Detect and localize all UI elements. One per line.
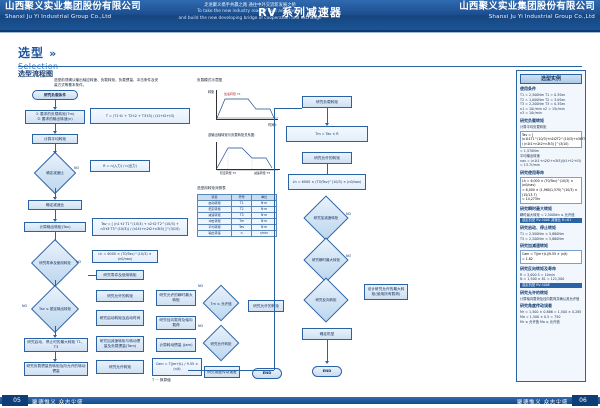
flow-node-provisional-model: 确定减速比 <box>28 200 82 210</box>
flow-decision-right-3-label: 研究反向转矩 <box>304 292 348 308</box>
flow-node-end-right: END <box>312 366 342 377</box>
panel-allowed-text: 计算轴向载荷及径向载荷并确认其允许值 <box>520 297 582 302</box>
cell-item: 输出转速 <box>198 231 232 237</box>
flow-formula-tav: Tav = [ (n1·t1·T1^(10/3) + n2·t2·T2^(10/… <box>92 218 188 236</box>
flow-decision-right-life-label: 研究加减速转矩 <box>304 210 348 226</box>
branch-label-no: NO <box>198 324 203 328</box>
header-product-title: RV 系列减速器 <box>258 4 342 20</box>
section-divider <box>18 66 582 67</box>
mini-chart2-caption: 选输出轴转矩与负载转矩关系图： <box>208 132 257 137</box>
panel-heading-max-torque: 研究瞬时最大转矩 <box>520 206 582 212</box>
flow-node-accel-torque: 研究加减速转矩与转动惯量及负载惯量(Tam) <box>96 336 144 352</box>
company-name-en-right: Shanxi Ju Yi Industrial Group Co.,Ltd <box>430 13 595 21</box>
footer-text-left: 聚德惟义 众志尘盛 <box>32 398 83 406</box>
panel-formula-cam: Cam = T(Jm+JL)/9.55 × (n/t) = 1.82 <box>520 250 582 263</box>
page-number-right: 06 <box>572 395 594 406</box>
panel-reverse-values: R = 3,000 S = 10min N = 1,500 × 81 = 121… <box>520 273 582 282</box>
note-conditions: 选型前须确认输出轴应转速、负载转矩、负载惯量、冲击条件及安装方式等基本条件。 <box>54 78 159 88</box>
flow-node-average-torque: 计算平均转矩 <box>32 134 78 144</box>
panel-heading-conditions: 使用条件 <box>520 86 582 92</box>
flow-formula-right-2: Lh = 6000 × (T0/Tav)^(10/3) × (n0/nav) <box>288 174 366 190</box>
panel-start-stop-values: T1 = 2,500Nm < 5,880Nm T3 = 2,200Nm < 5,… <box>520 232 582 241</box>
flow-node-right-2: 研究允许的转矩 <box>302 152 352 164</box>
flow-formula-cam: Cam = T(Jm+JL) / 9.55 × (n/t) <box>152 358 202 376</box>
branch-label-no: NO <box>346 212 351 216</box>
note-load-pattern: 负载模式示意图 <box>197 78 222 83</box>
connector <box>327 340 328 362</box>
header-left-company: 山西聚义实业集团股份有限公司 Shanxi Ju Yi Industrial G… <box>5 1 165 21</box>
mini-chart-label-t1: 加速转矩 T1 <box>224 92 241 96</box>
flow-caption-t: T ··· 换算值 <box>152 378 171 383</box>
chevron-right-icon: » <box>49 47 56 60</box>
panel-heading-angle: 研究角度传动误差 <box>520 303 582 309</box>
footer-bar <box>0 397 600 404</box>
table-row: 输出转速 n r/min <box>198 231 277 237</box>
flow-decision-ratio-label: 确定减速比 <box>36 165 74 181</box>
flow-decision-life-label: 研究寿命及使用转矩 <box>34 256 76 270</box>
flow-node-start-time: 研究启动转矩及启动时间 <box>96 310 144 326</box>
flow-node-angle-error: 研究角度传动误差 <box>204 366 240 378</box>
panel-selected-model-2: 选定机型 RV-500E <box>520 283 582 288</box>
panel-heading-life: 研究使用寿命 <box>520 170 582 176</box>
branch-label-no: NO <box>76 260 81 264</box>
branch-label-no: NO <box>74 166 79 170</box>
flow-formula-right: Tm = Tav × R <box>286 126 368 142</box>
panel-heading-reverse: 研究反向转矩及寿命 <box>520 266 582 272</box>
connector <box>327 108 328 124</box>
footer-edge-right <box>594 395 598 406</box>
flow-decision-allowed-label: 研究允许转矩 <box>204 338 238 350</box>
cell-symbol: n <box>232 231 252 237</box>
company-name-cn: 山西聚义实业集团股份有限公司 <box>5 1 165 13</box>
flow-diagram: 选型前须确认输出轴应转速、负载转矩、负载惯量、冲击条件及安装方式等基本条件。 负… <box>12 78 512 383</box>
branch-label-no: NO <box>346 254 351 258</box>
page-number-left: 05 <box>6 395 28 406</box>
mini-chart-torque-speed: 选输出轴转矩与负载转矩关系图： 稳定转矩 T2 减速转矩 T3 <box>208 138 288 183</box>
flow-node-allowed-torque2: 研究允许转矩 <box>96 360 144 374</box>
arrow-down-icon <box>325 361 329 364</box>
panel-avg-speed: 平均输出转速 nav = (n1t1+n2t2+n3t3)/(t1+t2+t3)… <box>520 154 582 168</box>
header-thin-rule <box>0 32 600 33</box>
page-root: 山西聚义实业集团股份有限公司 Shanxi Ju Yi Industrial G… <box>0 0 600 408</box>
mini-chart2-label-t2: 稳定转矩 T2 <box>220 171 236 175</box>
company-name-cn-right: 山西聚义实业集团股份有限公司 <box>430 1 595 13</box>
page-header: 山西聚义实业集团股份有限公司 Shanxi Ju Yi Industrial G… <box>0 0 600 34</box>
panel-formula-life: Lh = 6,000 × (T0/Tav)^(10/3) × (n0/nav) … <box>520 177 582 204</box>
spine-connector <box>274 108 275 370</box>
footer-text-right: 聚德惟义 众志尘盛 <box>517 398 568 406</box>
flow-node-start: 研究负载条件 <box>32 90 78 100</box>
branch-label-no: NO <box>198 284 203 288</box>
flow-node-recheck: 研究允许的转矩 <box>248 300 284 312</box>
panel-max-torque-value: 瞬时最大转矩 = 2,500Nm ≤ 允许值 <box>520 213 582 218</box>
panel-heading-accel: 研究加减速转矩 <box>520 243 582 249</box>
flow-formula-average-torque: T = (T1·t1 + T2·t2 + T3·t3) / (t1+t2+t3) <box>90 108 190 124</box>
panel-avg-torque-caption: 计算平均负载转矩 <box>520 125 582 130</box>
flow-node-conditions: ① 要求的负载转矩(Tm) ② 要求的输出转速(n) <box>25 110 85 124</box>
section-title-cn: 选型 <box>18 46 44 60</box>
flow-formula-life: Lh = 6000 × (T0/Tav)^(10/3) × (n0/nav) <box>92 250 158 263</box>
cell-unit: r/min <box>252 231 277 237</box>
header-right-company: 山西聚义实业集团股份有限公司 Shanxi Ju Yi Industrial G… <box>430 1 595 21</box>
flow-node-check-inertia: 研究允许的瞬时最大转矩 <box>156 290 196 306</box>
branch-label-no: NO <box>22 304 27 308</box>
flow-decision-instant-torque-label: Tav ≤ 额定输出转矩 <box>32 302 78 316</box>
selection-example-panel: 选型实例 使用条件 T1 = 2,500Nm T1 = 0.3Sec T2 = … <box>516 70 586 382</box>
panel-heading-allowed: 研究允许的转矩 <box>520 290 582 296</box>
company-name-en: Shanxi Ju Yi Industrial Group Co.,Ltd <box>5 13 165 21</box>
flow-decision-torque-check-label: Tm ≤ 允许值 <box>204 298 238 310</box>
flow-node-input-speed: 研究寿命及使用转矩 <box>96 270 144 280</box>
connector <box>274 108 302 109</box>
mini-chart2-label-t3: 减速转矩 T3 <box>254 171 270 175</box>
flow-formula-ratio: R = n(入力) / n(出力) <box>90 160 150 172</box>
panel-heading-load-torque: 研究负载转矩 <box>520 118 582 124</box>
connector <box>188 370 274 371</box>
flow-node-calc-output: 计算输出转矩(Tav) <box>24 222 86 232</box>
flow-decision-right-torque-label: 研究瞬时最大转矩 <box>304 252 348 268</box>
flow-node-inertia-calc: 计算转动惯量 (Jam) <box>156 338 196 352</box>
flow-node-allowed-torque: 研究允许的转矩 <box>96 290 144 302</box>
panel-formula-tav: Tav = [ (n1t1T1^(10/3)+n2t2T2^(10/3)+n3t… <box>520 131 582 149</box>
torque-reference-table: 项目 符号 单位 启动转矩 T1 N·m 稳定转矩 T2 N·m 减速转矩 T3… <box>197 194 277 237</box>
panel-title: 选型实例 <box>520 74 582 84</box>
note-torque-table-caption: 选型用转矩对照表 <box>197 186 226 191</box>
flow-node-start-stop-torque: 研究启动、停止时的最大转矩 T1、T3 <box>24 338 88 352</box>
flow-node-radial-axial: 研究径向载荷及轴向载荷 <box>156 316 196 330</box>
panel-angle-values: Mr = 1,500 × 0.866 = 1,500 × 0.285 Ma = … <box>520 310 582 324</box>
flow-node-right-side-1: 设计研究允许的最大转矩(使用所有载荷) <box>364 284 408 300</box>
flow-node-right-1: 研究负载转矩 <box>302 96 352 108</box>
panel-selected-model-1: 选定机型 RV-500E 减速比 R=81 <box>520 218 582 223</box>
panel-conditions-values: T1 = 2,500Nm T1 = 0.3Sec T2 = 1,000Nm T2… <box>520 93 582 116</box>
flow-node-inertia-torque: 研究负载惯量的转矩及所允许的转动惯量 <box>24 362 88 376</box>
panel-heading-start-stop: 研究启动、停止转矩 <box>520 225 582 231</box>
page-footer: 05 聚德惟义 众志尘盛 06 聚德惟义 众志尘盛 <box>0 392 600 408</box>
flow-node-right-final: 确定机型 <box>302 328 352 340</box>
connector <box>88 275 96 276</box>
